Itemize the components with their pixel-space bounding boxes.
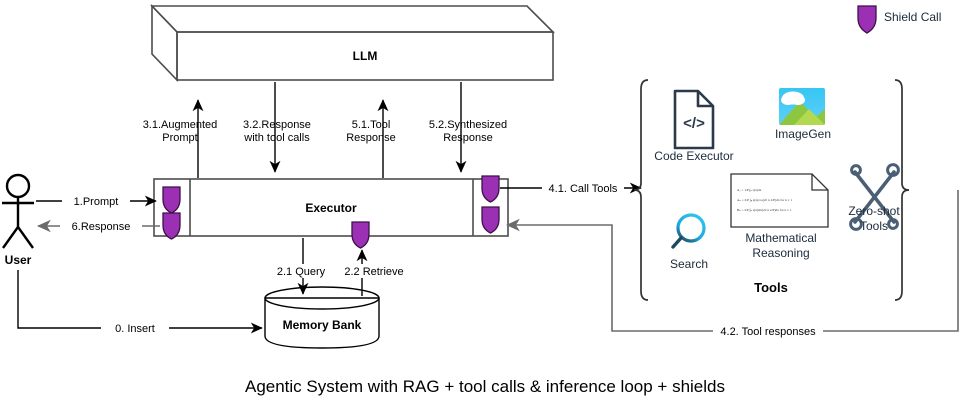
flow-2-1-query: 2.1 Query	[268, 238, 334, 294]
flow-label: 6.Response	[72, 221, 131, 233]
math-formula-3: Bₙ = 2/P ∫ₚ s(x)sin(2π n x/P)dx for n ≥ …	[737, 208, 792, 212]
shield-icon-memory	[352, 222, 369, 248]
flow-4-1-call-tools: 4.1. Call Tools	[500, 181, 641, 195]
magnifier-handle	[673, 238, 681, 247]
executor-node[interactable]: Executor	[154, 179, 508, 236]
flow-label: 2.2 Retrieve	[344, 266, 403, 278]
flow-label-line1: 3.2.Response	[243, 119, 311, 131]
shield-icon-tools-out	[482, 176, 499, 202]
tool-imagegen[interactable]: ImageGen	[775, 88, 831, 141]
legend-label: Shield Call	[884, 10, 941, 24]
shield-icon-executor-out	[163, 213, 180, 239]
flow-6-response: 6.Response	[38, 219, 160, 233]
user-leg-left	[3, 227, 18, 248]
shield-icon-executor-in	[163, 187, 180, 213]
flow-label: 4.1. Call Tools	[549, 183, 618, 195]
page-title: Agentic System with RAG + tool calls & i…	[245, 377, 725, 396]
flow-label-line1: 5.2.Synthesized	[429, 119, 507, 131]
tool-label-line1: Zero-shot	[848, 204, 900, 218]
code-glyph: </>	[683, 115, 705, 132]
shield-icon	[858, 6, 876, 33]
flow-3-1-augmented-prompt: 3.1.Augmented Prompt	[143, 100, 218, 178]
legend-shield-call: Shield Call	[858, 6, 941, 33]
wrench-head-4	[889, 220, 898, 229]
flow-label-line2: Prompt	[162, 132, 197, 144]
tool-search[interactable]: Search	[670, 215, 708, 271]
tools-group-label: Tools	[754, 280, 788, 295]
user-label: User	[5, 253, 32, 267]
tools-left-bracket	[634, 80, 648, 300]
llm-top-face	[152, 6, 553, 32]
flow-1-prompt: 1.Prompt	[36, 194, 156, 208]
agentic-system-diagram: LLM 3.1.Augmented Prompt 3.2.Response wi…	[0, 0, 970, 411]
flow-label-line1: 3.1.Augmented	[143, 119, 218, 131]
flow-5-2-synthesized-response: 5.2.Synthesized Response	[429, 82, 507, 172]
tools-right-bracket	[895, 80, 909, 300]
user-head	[7, 175, 29, 197]
tool-label-line1: Mathematical	[745, 231, 816, 245]
tool-label: Search	[670, 257, 708, 271]
flow-0-insert: 0. Insert	[18, 270, 262, 335]
tool-label-line2: Tools	[860, 219, 888, 233]
executor-label: Executor	[305, 201, 357, 215]
wrench-head-3	[852, 166, 861, 175]
flow-2-2-retrieve: 2.2 Retrieve	[336, 250, 412, 296]
flow-label: 4.2. Tool responses	[720, 326, 816, 338]
tool-label: Code Executor	[654, 149, 733, 163]
flow-arrow	[18, 270, 262, 328]
tool-zero-shot-tools[interactable]: Zero-shot Tools	[848, 165, 900, 233]
flow-label-line2: Response	[346, 132, 396, 144]
flow-label: 0. Insert	[115, 323, 155, 335]
flow-5-1-tool-response: 5.1.Tool Response	[346, 100, 396, 178]
tool-label-line2: Reasoning	[752, 246, 809, 260]
tool-label: ImageGen	[775, 127, 831, 141]
llm-label: LLM	[353, 49, 378, 63]
flow-label-line2: Response	[443, 132, 493, 144]
tool-mathematical-reasoning[interactable]: A₀ = 1/P ∫ₚ s(x)dx Aₙ = 2/P ∫ₚ s(x)cos(2…	[731, 174, 828, 260]
flow-label-line2: with tool calls	[243, 132, 310, 144]
llm-node[interactable]: LLM	[152, 6, 553, 80]
user-leg-right	[18, 227, 33, 248]
shield-icon-tools-in	[482, 207, 499, 233]
tool-code-executor[interactable]: </> Code Executor	[654, 91, 733, 163]
math-formula-2: Aₙ = 2/P ∫ₚ s(x)cos(2π n x/P)dx for n ≥ …	[737, 198, 793, 202]
memory-bank-node[interactable]: Memory Bank	[265, 287, 379, 348]
flow-3-2-response-with-tool-calls: 3.2.Response with tool calls	[243, 82, 311, 172]
flow-label: 1.Prompt	[74, 196, 119, 208]
memory-bank-label: Memory Bank	[283, 318, 362, 332]
flow-label: 2.1 Query	[277, 266, 326, 278]
flow-label-line1: 5.1.Tool	[352, 119, 391, 131]
math-formula-1: A₀ = 1/P ∫ₚ s(x)dx	[737, 188, 762, 192]
cloud-right	[791, 95, 805, 105]
llm-side-face	[152, 6, 177, 80]
user-node[interactable]: User	[2, 175, 34, 267]
